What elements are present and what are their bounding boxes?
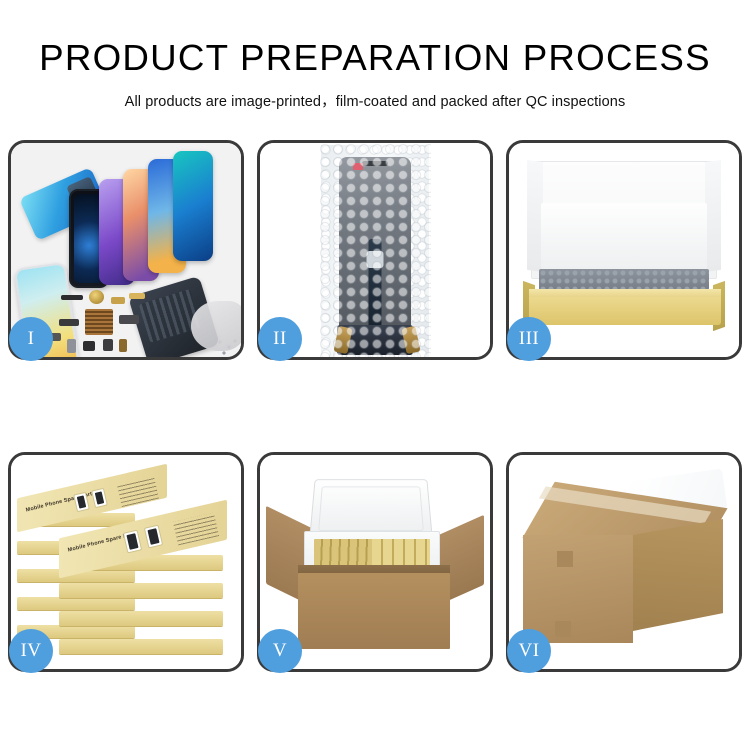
carton-side-face-icon <box>633 519 723 631</box>
page-subtitle: All products are image-printed，film-coat… <box>0 90 750 111</box>
step-panel-4[interactable]: Mobile Phone Spare Parts Mobile Phone Sp… <box>8 452 244 672</box>
carton-handle-tab-bottom-icon <box>555 621 571 637</box>
step-panel-3[interactable]: III <box>506 140 742 360</box>
part-speaker-icon <box>61 295 83 300</box>
part-flex-cable-icon <box>111 297 125 304</box>
step-badge-5: V <box>258 629 302 673</box>
box-front-icon <box>529 297 721 325</box>
step-panel-1[interactable]: I <box>8 140 244 360</box>
product-preparation-infographic: PRODUCT PREPARATION PROCESS All products… <box>0 0 750 750</box>
box-front-2 <box>59 583 223 598</box>
phone-display-teal-icon <box>173 151 213 261</box>
qc-label-icon <box>353 163 363 170</box>
step-badge-4: IV <box>9 629 53 673</box>
step-badge-3: III <box>507 317 551 361</box>
step-panel-6[interactable]: VI <box>506 452 742 672</box>
header: PRODUCT PREPARATION PROCESS All products… <box>0 0 750 111</box>
step-panel-5[interactable]: V <box>257 452 493 672</box>
process-steps-grid: I II <box>8 140 742 686</box>
lid-flap-right-icon <box>705 160 721 272</box>
part-vibrator-icon <box>89 290 104 304</box>
part-module-icon <box>103 339 113 351</box>
foam-sheet-icon <box>541 203 707 269</box>
box-front-4 <box>59 639 223 654</box>
box-front-3 <box>59 611 223 626</box>
part-gold-contact-icon <box>119 339 127 352</box>
carton-front-face-icon <box>523 535 633 643</box>
part-camera-icon <box>119 315 139 324</box>
carton-body-icon <box>298 573 450 649</box>
step-badge-1: I <box>9 317 53 361</box>
page-title: PRODUCT PREPARATION PROCESS <box>0 40 750 76</box>
hand-icon <box>191 301 241 351</box>
part-sim-tray-icon <box>67 339 76 353</box>
box-rear-4 <box>17 597 135 610</box>
step-badge-2: II <box>258 317 302 361</box>
part-button-icon <box>83 341 95 351</box>
chip-grid-icon <box>85 309 113 335</box>
part-connector-icon <box>129 293 145 299</box>
step-badge-6: VI <box>507 629 551 673</box>
carton-handle-tab-top-icon <box>557 551 573 567</box>
step-panel-2[interactable]: II <box>257 140 493 360</box>
part-bracket-icon <box>59 319 79 326</box>
